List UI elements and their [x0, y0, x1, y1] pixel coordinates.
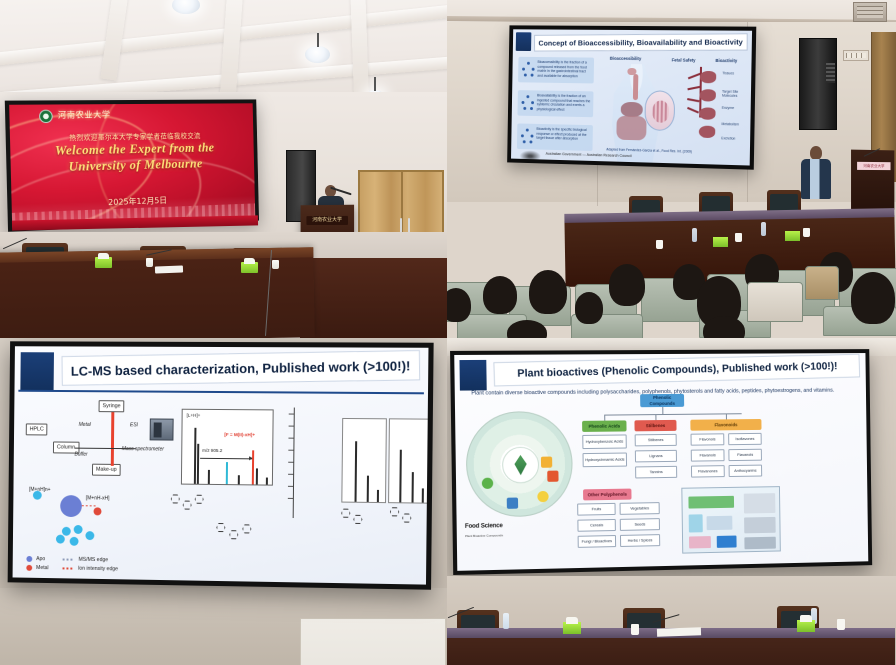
mass-spectrum-plot: [388, 418, 428, 503]
definition-text: Bioactivity is the specific biological r…: [536, 127, 586, 141]
food-icon: [482, 478, 493, 489]
column-header: Bioaccessibility: [610, 56, 642, 61]
flow-item: Stilbenes: [635, 434, 677, 447]
diagram-node-makeup: Make-up: [92, 464, 121, 476]
flow-item: Hydroxycinnamic Acids: [583, 453, 628, 468]
audience-head: [851, 272, 895, 324]
slide-surface: Concept of Bioaccessibility, Bioavailabi…: [511, 29, 752, 165]
mass-spectrum-plot: [341, 418, 387, 503]
flow-item: Anthocyanins: [729, 465, 763, 477]
water-bottle: [761, 222, 766, 236]
definition-box: Bioavailability is the fraction of an in…: [517, 90, 593, 117]
paper-cup: [837, 619, 845, 630]
podium-nameplate: 河南农业大学: [306, 216, 348, 225]
column-header: Fetal Safety: [672, 57, 696, 62]
flow-item: Vegetables: [620, 502, 660, 515]
slide-surface: Plant bioactives (Phenolic Compounds), P…: [454, 353, 868, 571]
organ-label: Metabolism: [721, 122, 738, 126]
flow-group-header: Other Polyphenols: [583, 489, 632, 501]
legend-label: MS/MS edge: [79, 557, 109, 563]
target-organ-icon: [700, 71, 717, 83]
target-organ-icon: [699, 89, 716, 101]
air-vent: [853, 2, 887, 22]
dark-cabinet: [799, 38, 837, 130]
university-logo-icon: [20, 352, 54, 392]
panel-bottom-right: Plant bioactives (Phenolic Compounds), P…: [447, 338, 896, 665]
photo-collage: 河南农业大学 热烈欢迎墨尔本大学专家学者莅临我校交流 Welcome the E…: [0, 0, 896, 665]
legend-dash-msms-icon: [63, 559, 75, 561]
projection-screen: Plant bioactives (Phenolic Compounds), P…: [450, 349, 872, 575]
slide-title-bar: LC-MS based characterization, Published …: [62, 350, 421, 386]
flow-item: Seeds: [620, 518, 660, 531]
paper-cup: [735, 233, 742, 242]
flow-item: Hydroxybenzoic Acids: [582, 434, 627, 449]
funder-text: Australian Government — Australian Resea…: [546, 152, 632, 159]
spectrum-label-mz: m/z 905.2: [202, 448, 222, 453]
banner-surface: 河南农业大学 热烈欢迎墨尔本大学专家学者莅临我校交流 Welcome the E…: [9, 103, 255, 227]
side-table: [300, 258, 447, 338]
cell-zoom-diagram: [644, 90, 675, 131]
tissue-box: [241, 262, 258, 273]
banner-university-name: 河南农业大学: [58, 109, 111, 121]
audience-head: [483, 276, 517, 314]
slide-title-bar: Plant bioactives (Phenolic Compounds), P…: [493, 354, 860, 387]
flow-group-header: Flavonoids: [690, 419, 761, 431]
panel-top-right: Concept of Bioaccessibility, Bioavailabi…: [447, 0, 896, 338]
audience-light-coat: [747, 282, 803, 322]
slide-title: LC-MS based characterization, Published …: [71, 358, 411, 378]
flow-item: Flavanols: [691, 449, 725, 461]
organ-label: Tissues: [722, 71, 734, 75]
mass-spectrometer-icon: [150, 418, 174, 440]
paper-cup: [272, 260, 279, 269]
paper-cup: [631, 624, 639, 635]
tissue-box: [713, 237, 728, 247]
workflow-photo: [681, 486, 781, 554]
target-organ-icon: [699, 126, 716, 139]
tissue-box: [95, 257, 112, 268]
target-organ-icon: [699, 107, 716, 119]
organ-label: Target Site Molecules: [722, 90, 751, 99]
paper-cup: [146, 258, 153, 267]
slide-title: Plant bioactives (Phenolic Compounds), P…: [517, 360, 837, 380]
flow-item: Flavanols: [728, 449, 762, 461]
projection-screen: LC-MS based characterization, Published …: [8, 341, 434, 589]
paper-cup: [803, 228, 810, 237]
audience-head: [529, 270, 567, 314]
spectrum-label-highlight: [F = M(II)-xH]+: [224, 432, 255, 437]
podium-microphone: [864, 148, 880, 157]
apo-node: [60, 495, 82, 517]
flow-item: Cereals: [577, 519, 616, 532]
podium: 河南农业大学: [851, 150, 894, 211]
panel-bottom-left: LC-MS based characterization, Published …: [0, 338, 447, 665]
tissue-box: [797, 620, 815, 632]
food-icon: [537, 491, 548, 502]
slide-divider: [18, 390, 424, 395]
flow-item: Fruits: [577, 503, 616, 516]
flow-item: Lignans: [635, 450, 677, 463]
corner-label: Food Science: [465, 523, 503, 530]
flow-item: Tannins: [635, 466, 677, 479]
molecule-icon: [522, 62, 536, 78]
whiteboard: [300, 618, 446, 665]
slide-citation: Plant Bioactive Compounds: [465, 532, 578, 539]
definition-box: Bioactivity is the specific biological r…: [517, 123, 593, 151]
projection-screen: Concept of Bioaccessibility, Bioavailabi…: [507, 25, 756, 169]
organ-label: Excretion: [721, 136, 735, 140]
legend-dot-apo-icon: [26, 556, 32, 562]
food-icon: [507, 498, 518, 509]
papers: [657, 627, 701, 637]
university-emblem-icon: [39, 110, 53, 124]
flow-line-red: [111, 412, 114, 466]
flow-label-buffer: Buffer: [74, 452, 87, 458]
slide-surface: LC-MS based characterization, Published …: [13, 346, 429, 584]
organ-label: Enzyme: [722, 106, 734, 110]
molecule-icon: [521, 95, 535, 111]
legend-label: Metal: [36, 565, 48, 571]
papers: [155, 266, 183, 274]
molecule-icon: [521, 128, 535, 144]
legend-dash-ion-icon: [62, 568, 74, 570]
column-header: Bioactivity: [715, 58, 737, 63]
speaker-standing: [801, 146, 831, 202]
water-bottle: [503, 613, 509, 629]
flow-label-esi: ESI: [130, 422, 138, 428]
slide-legend: Apo MS/MS edge Metal Ion intensity edge: [26, 556, 118, 575]
intestine-icon: [616, 116, 646, 141]
audience-head: [575, 292, 603, 324]
circular-infographic: [465, 411, 573, 518]
led-banner-screen: 河南农业大学 热烈欢迎墨尔本大学专家学者莅临我校交流 Welcome the E…: [5, 99, 259, 231]
flow-item: Fungi / Bioactives: [578, 535, 617, 548]
legend-label: Apo: [36, 556, 45, 562]
flow-root-box: Phenolic Compounds: [640, 394, 684, 407]
flow-label-metal: Metal: [79, 422, 91, 428]
flow-item: Herbs / Spices: [620, 534, 660, 547]
legend-label: Ion intensity edge: [78, 566, 118, 573]
slide-title-bar: Concept of Bioaccessibility, Bioavailabi…: [534, 33, 748, 51]
flow-item: Flavanones: [691, 465, 725, 477]
flow-line: [75, 448, 136, 450]
definition-text: Bioaccessibility is the fraction of a co…: [537, 60, 587, 78]
handbag: [805, 266, 839, 300]
audience-area: [447, 248, 896, 338]
esophagus-icon: [633, 74, 638, 100]
diagram-node-syringe: Syringe: [99, 400, 125, 412]
network-diagram: [32, 491, 141, 558]
audience-head: [447, 288, 471, 322]
diagram-node-hplc: HPLC: [26, 423, 48, 435]
panel-top-left: 河南农业大学 热烈欢迎墨尔本大学专家学者莅临我校交流 Welcome the E…: [0, 0, 447, 338]
definition-text: Bioavailability is the fraction of an in…: [537, 93, 591, 111]
flow-item: Isoflavones: [728, 433, 762, 445]
intensity-axis-plot: [283, 407, 343, 518]
podium-nameplate: 河南农业大学: [857, 162, 890, 170]
slide-title: Concept of Bioaccessibility, Bioavailabi…: [538, 37, 742, 47]
food-icon: [547, 471, 558, 482]
audience-head: [703, 316, 745, 338]
spectrum-label: [L+H]+: [187, 413, 201, 418]
flow-group-header: Stilbenes: [634, 420, 676, 431]
food-icon: [541, 457, 552, 468]
university-logo-icon: [516, 32, 532, 51]
tissue-box: [563, 622, 581, 634]
audience-head: [609, 264, 645, 306]
government-crest-icon: [518, 149, 543, 163]
university-logo-icon: [459, 360, 486, 391]
flow-item: Flavonols: [691, 433, 725, 445]
metal-node: [94, 507, 102, 515]
definition-box: Bioaccessibility is the fraction of a co…: [518, 57, 594, 84]
conference-table: [447, 636, 895, 665]
wall-panel: [843, 50, 869, 61]
water-bottle: [692, 228, 697, 242]
mass-spectrum-plot: [L+H]+ [F = M(II)-xH]+ m/z 905.2: [181, 409, 274, 486]
pendant-light: [305, 46, 330, 63]
tissue-box: [785, 231, 800, 241]
legend-dot-metal-icon: [26, 565, 32, 571]
flow-group-header: Phenolic Acids: [582, 420, 627, 432]
